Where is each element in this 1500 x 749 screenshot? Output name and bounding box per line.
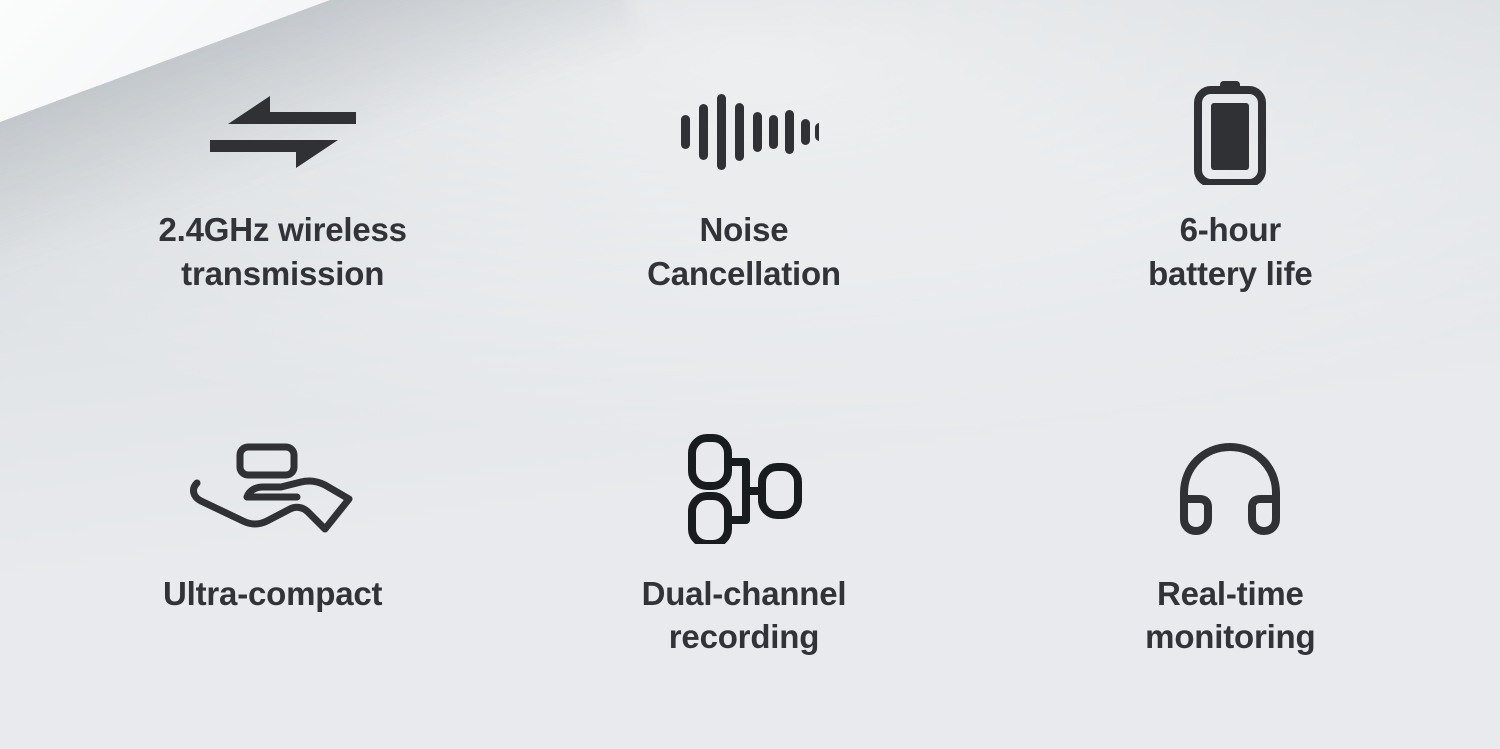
hand-holding-device-icon — [185, 428, 361, 550]
feature-label: Ultra-compact — [163, 572, 382, 616]
audio-waveform-icon — [669, 74, 819, 190]
feature-noise-cancellation: Noise Cancellation — [507, 74, 980, 390]
feature-label: Dual-channel recording — [642, 572, 847, 660]
feature-ultra-compact: Ultra-compact — [36, 390, 509, 706]
feature-label: Noise Cancellation — [647, 208, 841, 296]
feature-real-time-monitoring: Real-time monitoring — [994, 390, 1467, 706]
feature-wireless-transmission: 2.4GHz wireless transmission — [46, 74, 519, 390]
feature-label: Real-time monitoring — [1145, 572, 1315, 660]
transfer-arrows-icon — [208, 74, 358, 190]
battery-full-icon — [1192, 74, 1268, 190]
feature-battery-life: 6-hour battery life — [994, 74, 1467, 390]
feature-label: 2.4GHz wireless transmission — [159, 208, 407, 296]
feature-grid: 2.4GHz wireless transmission — [0, 0, 1500, 749]
feature-label: 6-hour battery life — [1148, 208, 1313, 296]
sitemap-channels-icon — [686, 428, 802, 550]
feature-dual-channel-recording: Dual-channel recording — [507, 390, 980, 706]
headphones-icon — [1176, 428, 1284, 550]
feature-highlights-panel: 2.4GHz wireless transmission — [0, 0, 1500, 749]
